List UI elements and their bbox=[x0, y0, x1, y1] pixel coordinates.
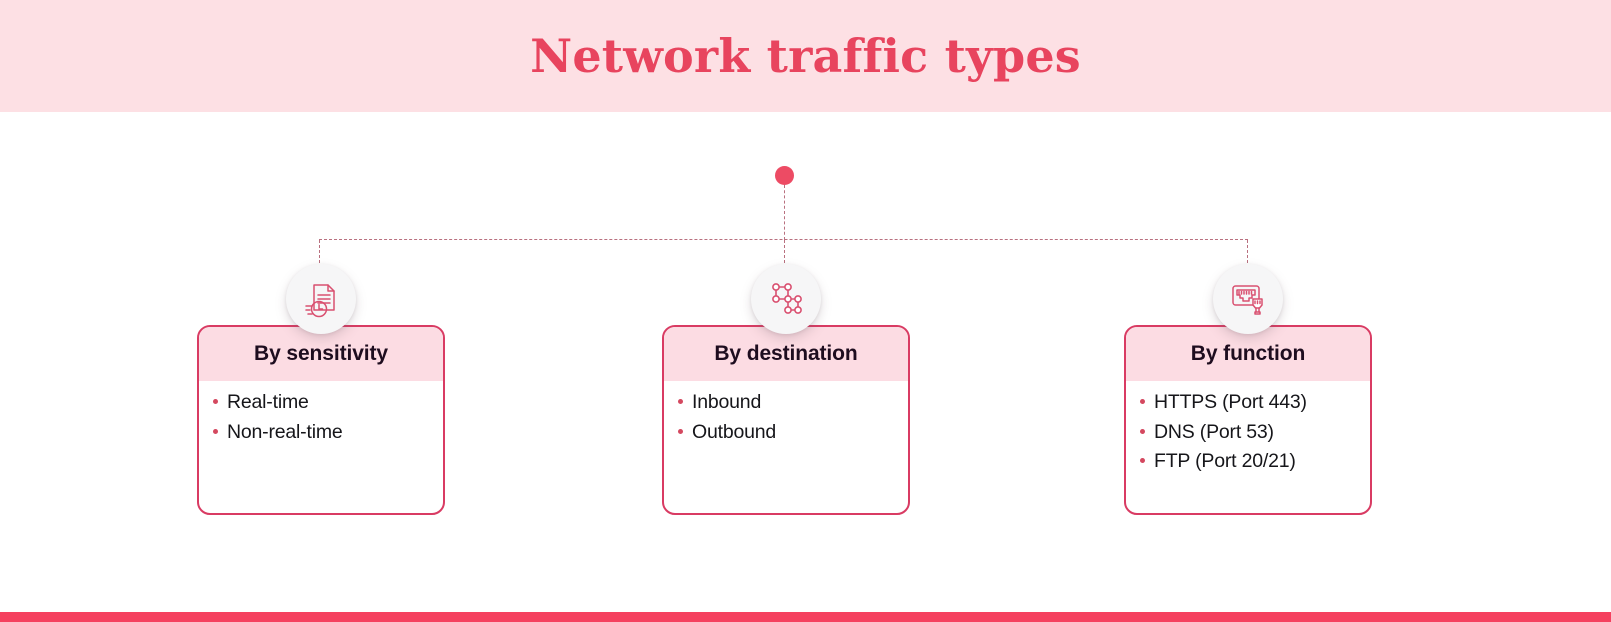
list-item: Outbound bbox=[678, 423, 908, 443]
page-title: Network traffic types bbox=[0, 0, 1611, 112]
list-item-label: FTP (Port 20/21) bbox=[1154, 452, 1296, 472]
card-header: By destination bbox=[664, 327, 908, 381]
list-item: Non-real-time bbox=[213, 423, 443, 443]
list-item: Real-time bbox=[213, 393, 443, 413]
bullet-dot-icon bbox=[678, 399, 683, 404]
bottom-accent-bar bbox=[0, 612, 1611, 622]
connector-trunk bbox=[784, 185, 785, 240]
card-by-function[interactable]: By function HTTPS (Port 443) DNS (Port 5… bbox=[1124, 325, 1372, 515]
card-by-destination[interactable]: By destination Inbound Outbound bbox=[662, 325, 910, 515]
bullet-list: Real-time Non-real-time bbox=[213, 393, 443, 442]
list-item-label: Non-real-time bbox=[227, 423, 343, 443]
card-title: By function bbox=[1191, 342, 1305, 366]
card-body: HTTPS (Port 443) DNS (Port 53) FTP (Port… bbox=[1126, 381, 1370, 472]
card-by-sensitivity[interactable]: By sensitivity Real-time Non-real-time bbox=[197, 325, 445, 515]
bullet-list: Inbound Outbound bbox=[678, 393, 908, 442]
card-body: Real-time Non-real-time bbox=[199, 381, 443, 442]
root-node-dot bbox=[775, 166, 794, 185]
card-header: By sensitivity bbox=[199, 327, 443, 381]
bullet-dot-icon bbox=[1140, 399, 1145, 404]
bullet-dot-icon bbox=[213, 399, 218, 404]
list-item-label: HTTPS (Port 443) bbox=[1154, 393, 1307, 413]
list-item: FTP (Port 20/21) bbox=[1140, 452, 1370, 472]
bullet-list: HTTPS (Port 443) DNS (Port 53) FTP (Port… bbox=[1140, 393, 1370, 472]
list-item-label: Outbound bbox=[692, 423, 776, 443]
ethernet-port-icon bbox=[1228, 279, 1268, 319]
icon-medallion-by-function bbox=[1213, 264, 1283, 334]
list-item: DNS (Port 53) bbox=[1140, 423, 1370, 443]
icon-medallion-by-sensitivity bbox=[286, 264, 356, 334]
list-item-label: Real-time bbox=[227, 393, 309, 413]
card-body: Inbound Outbound bbox=[664, 381, 908, 442]
infographic-canvas: Network traffic types bbox=[0, 0, 1611, 622]
card-title: By sensitivity bbox=[254, 342, 388, 366]
document-clock-icon bbox=[301, 279, 341, 319]
header-band: Network traffic types bbox=[0, 0, 1611, 112]
bullet-dot-icon bbox=[1140, 429, 1145, 434]
list-item-label: Inbound bbox=[692, 393, 761, 413]
list-item-label: DNS (Port 53) bbox=[1154, 423, 1274, 443]
list-item: Inbound bbox=[678, 393, 908, 413]
icon-medallion-by-destination bbox=[751, 264, 821, 334]
list-item: HTTPS (Port 443) bbox=[1140, 393, 1370, 413]
network-nodes-icon bbox=[766, 279, 806, 319]
connector-crossbar bbox=[319, 239, 1248, 240]
bullet-dot-icon bbox=[213, 429, 218, 434]
card-header: By function bbox=[1126, 327, 1370, 381]
bullet-dot-icon bbox=[678, 429, 683, 434]
bullet-dot-icon bbox=[1140, 458, 1145, 463]
card-title: By destination bbox=[714, 342, 857, 366]
